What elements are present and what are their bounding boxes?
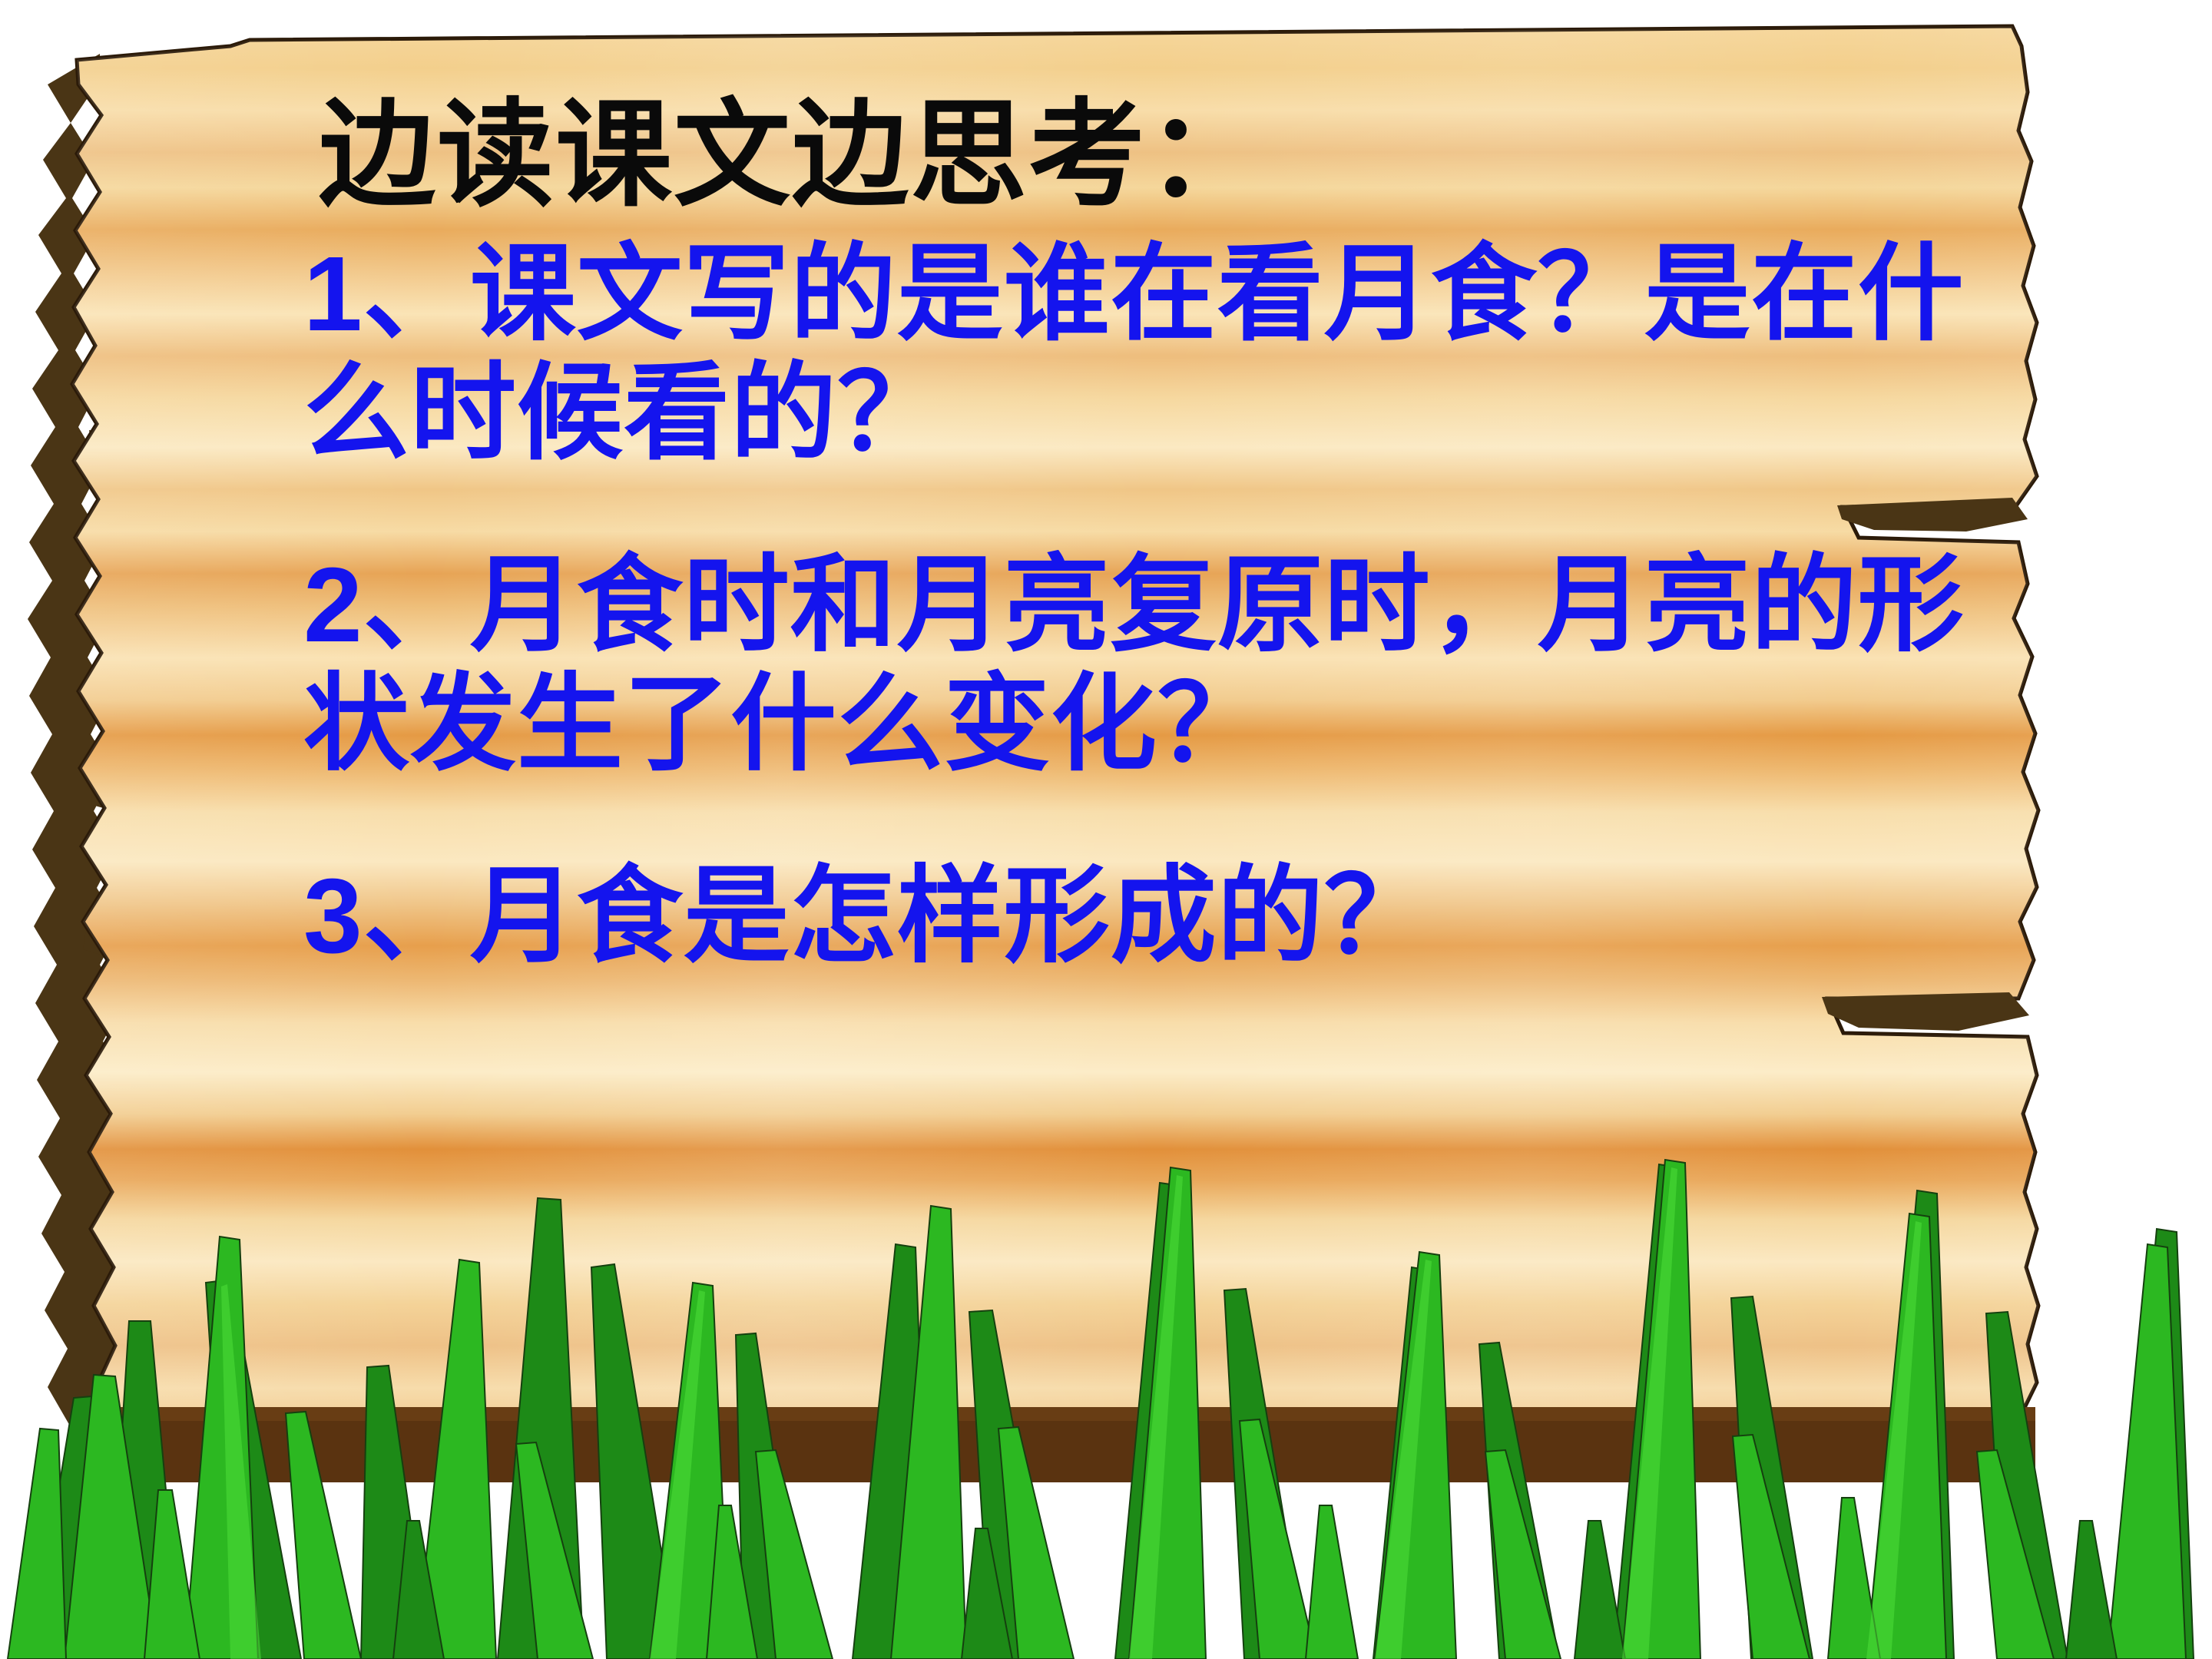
grass-decoration xyxy=(0,1091,2212,1659)
slide-canvas: 边读课文边思考： 1、课文写的是谁在看月食？是在什 么时候看的？ 2、月食时和月… xyxy=(0,0,2212,1659)
grass-graphic xyxy=(0,1091,2212,1659)
